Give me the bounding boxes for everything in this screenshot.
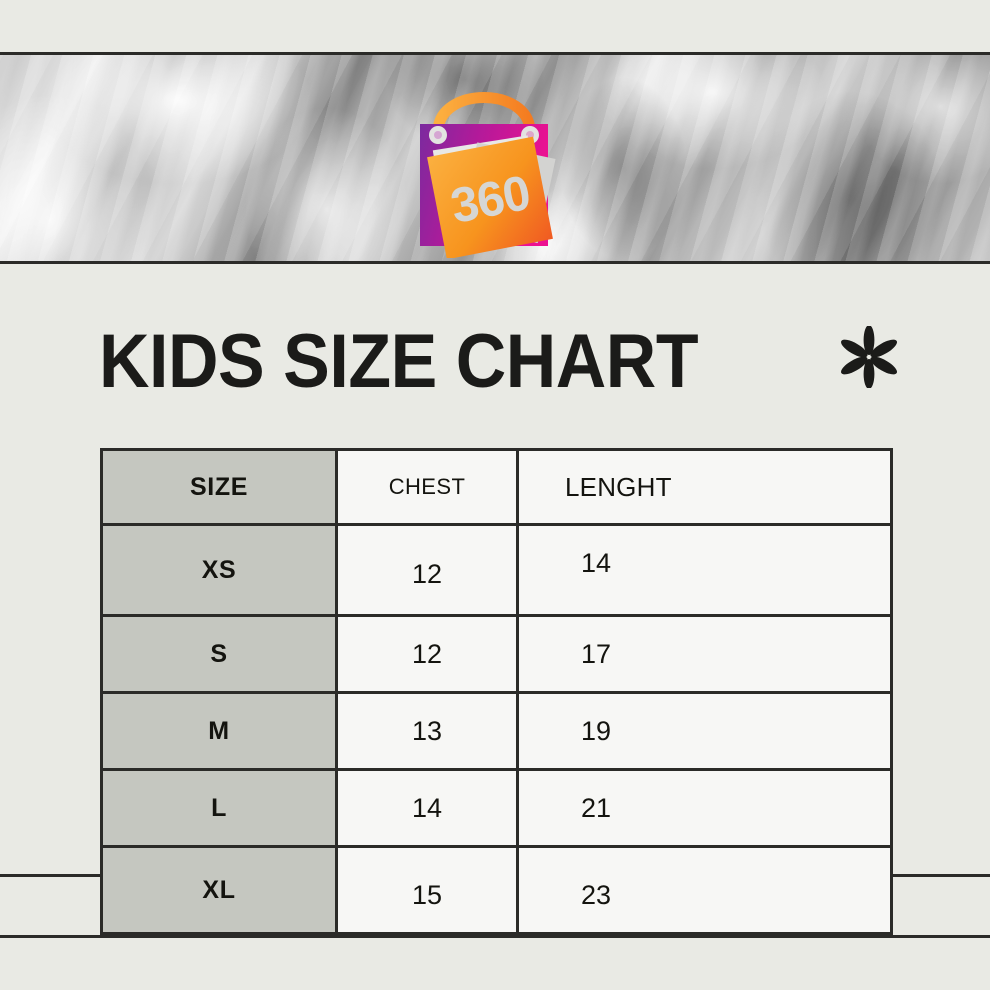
table-row: XL 15 23 — [102, 847, 892, 934]
page-title: KIDS SIZE CHART — [99, 322, 698, 402]
table-row: M 13 19 — [102, 693, 892, 770]
cell-size: S — [102, 616, 337, 693]
column-header-size: SIZE — [102, 450, 337, 525]
cell-size: L — [102, 770, 337, 847]
table-header-row: SIZE CHEST LENGHT — [102, 450, 892, 525]
cell-chest: 13 — [337, 693, 518, 770]
cell-size: XS — [102, 525, 337, 616]
table-row: L 14 21 — [102, 770, 892, 847]
divider-line-lower — [0, 935, 990, 938]
cell-chest: 12 — [337, 525, 518, 616]
shopping-bag-360-logo: 360 — [408, 80, 580, 258]
cell-size: M — [102, 693, 337, 770]
cell-length: 21 — [518, 770, 892, 847]
cell-chest: 14 — [337, 770, 518, 847]
table-row: XS 12 14 — [102, 525, 892, 616]
size-chart-table: SIZE CHEST LENGHT XS 12 14 S 12 17 M 13 … — [100, 448, 893, 935]
asterisk-star-icon — [838, 326, 900, 388]
cell-chest: 15 — [337, 847, 518, 934]
table-row: S 12 17 — [102, 616, 892, 693]
column-header-length: LENGHT — [518, 450, 892, 525]
cell-chest: 12 — [337, 616, 518, 693]
column-header-chest: CHEST — [337, 450, 518, 525]
cell-length: 23 — [518, 847, 892, 934]
cell-length: 14 — [518, 525, 892, 616]
cell-length: 19 — [518, 693, 892, 770]
cell-length: 17 — [518, 616, 892, 693]
cell-size: XL — [102, 847, 337, 934]
